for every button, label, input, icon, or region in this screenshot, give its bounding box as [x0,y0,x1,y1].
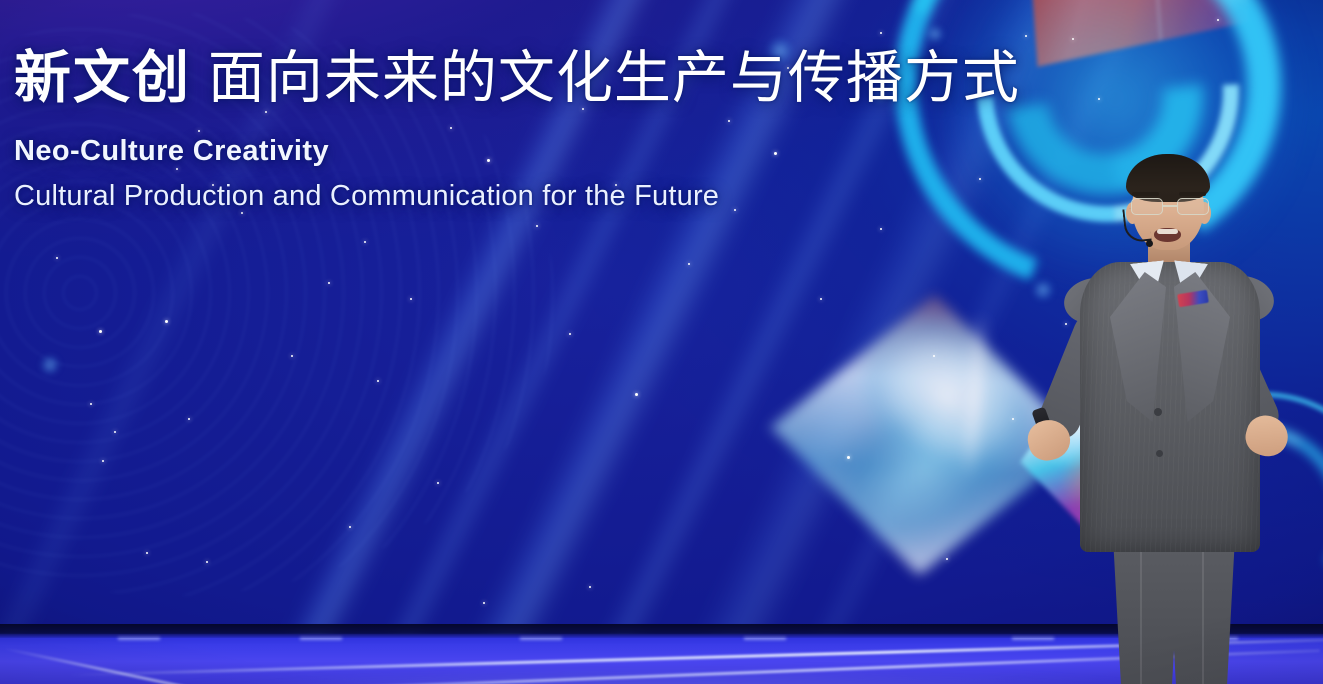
speaker-presenter [1006,150,1306,684]
headset-microphone-icon [1122,207,1151,244]
subtitle-english-bold: Neo-Culture Creativity [14,135,1020,168]
bokeh-dot [40,355,60,375]
star-dot [102,460,104,462]
star-dot [90,403,92,405]
star-dot [1217,19,1219,21]
speaker-eyebrow [1179,192,1206,196]
star-dot [688,263,690,265]
star-dot [880,32,882,34]
speaker-teeth [1157,229,1178,234]
star-dot [206,561,208,563]
star-dot [483,602,485,604]
slide-headline-block: 新文创 面向未来的文化生产与传播方式 Neo-Culture Creativit… [14,46,1020,213]
speaker-mouth [1154,228,1181,242]
jacket-button [1156,450,1163,457]
star-dot [99,330,102,333]
star-dot [437,482,439,484]
star-dot [536,225,538,227]
trouser-crease [1140,550,1142,684]
trouser-crease [1202,550,1204,684]
speaker-trousers [1108,542,1240,684]
title-chinese-bold: 新文创 [14,46,191,110]
star-dot [946,558,948,560]
star-dot [569,333,571,335]
stage-scene: 新文创 面向未来的文化生产与传播方式 Neo-Culture Creativit… [0,0,1323,684]
star-dot [589,586,591,588]
speaker-suit-jacket [1080,262,1260,552]
star-dot [410,298,412,300]
star-dot [114,431,116,433]
microphone-capsule [1146,240,1153,247]
star-dot [1025,35,1027,37]
star-dot [328,282,330,284]
star-dot [188,418,190,420]
star-dot [820,298,822,300]
star-dot [880,228,882,230]
star-dot [1072,38,1074,40]
star-dot [56,257,58,259]
star-dot [349,526,351,528]
page-title: 新文创 面向未来的文化生产与传播方式 [14,46,1020,111]
glasses-bridge [1163,205,1177,207]
star-dot [933,355,935,357]
star-dot [847,456,850,459]
star-dot [291,355,293,357]
star-dot [146,552,148,554]
subtitle-english-regular: Cultural Production and Communication fo… [14,180,1020,213]
bokeh-dot [926,25,944,43]
jacket-button [1154,408,1162,416]
star-dot [1098,98,1100,100]
title-chinese-light: 面向未来的文化生产与传播方式 [208,46,1020,110]
star-dot [377,380,379,382]
star-dot [364,241,366,243]
star-dot [635,393,638,396]
speaker-eyebrow [1132,192,1159,196]
star-dot [165,320,168,323]
glasses-lens [1177,198,1209,215]
